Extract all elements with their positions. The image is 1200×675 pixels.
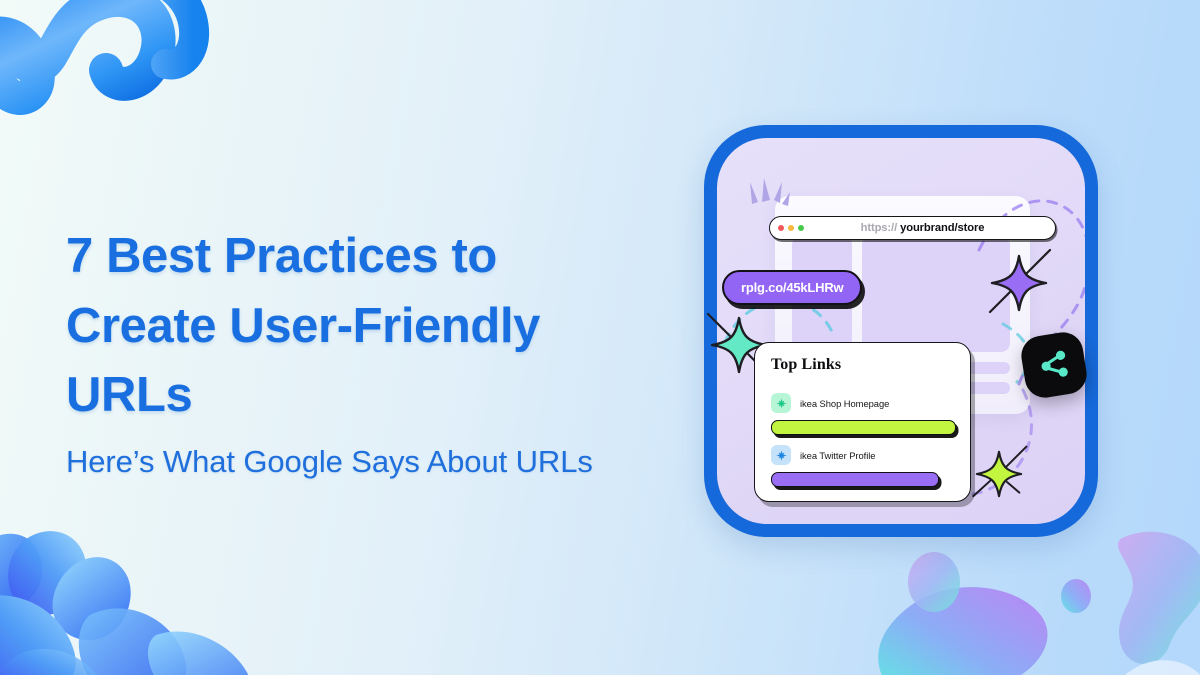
top-links-row-header: ikea Shop Homepage (771, 393, 954, 413)
address-bar-text: https:// yourbrand/store (804, 222, 1041, 234)
url-host: yourbrand/store (900, 222, 984, 234)
sparkle-icon (771, 445, 791, 465)
poster-canvas: 7 Best Practices to Create User-Friendly… (0, 0, 1200, 675)
share-icon (1035, 346, 1074, 385)
page-subtitle: Here’s What Google Says About URLs (66, 441, 626, 482)
blue-ribbon-decoration (0, 0, 240, 160)
top-links-row[interactable]: ikea Shop Homepage (771, 393, 954, 435)
close-dot-icon (778, 225, 784, 231)
top-links-row-name: ikea Twitter Profile (800, 450, 875, 461)
url-protocol: https:// (861, 222, 897, 234)
top-links-row[interactable]: ikea Twitter Profile (771, 445, 954, 487)
top-links-title: Top Links (771, 356, 841, 374)
share-badge[interactable] (1019, 330, 1090, 401)
top-links-row-bar (771, 420, 956, 435)
iridescent-blobs-decoration (870, 520, 1200, 675)
headline-block: 7 Best Practices to Create User-Friendly… (66, 222, 626, 482)
top-links-row-header: ikea Twitter Profile (771, 445, 954, 465)
browser-address-bar[interactable]: https:// yourbrand/store (769, 216, 1056, 240)
blue-bloom-decoration (0, 505, 270, 675)
sparkle-icon (771, 393, 791, 413)
traffic-light-dots (778, 225, 804, 231)
sparkle-lime-icon (968, 443, 1030, 505)
page-title: 7 Best Practices to Create User-Friendly… (66, 222, 626, 431)
short-link-pill[interactable]: rplg.co/45kLHRw (722, 270, 862, 305)
top-links-row-bar (771, 472, 939, 487)
minimize-dot-icon (788, 225, 794, 231)
top-links-row-name: ikea Shop Homepage (800, 398, 889, 409)
top-links-panel: Top Links ikea Shop Homepage (754, 342, 971, 502)
sparkle-purple-icon (984, 248, 1054, 318)
